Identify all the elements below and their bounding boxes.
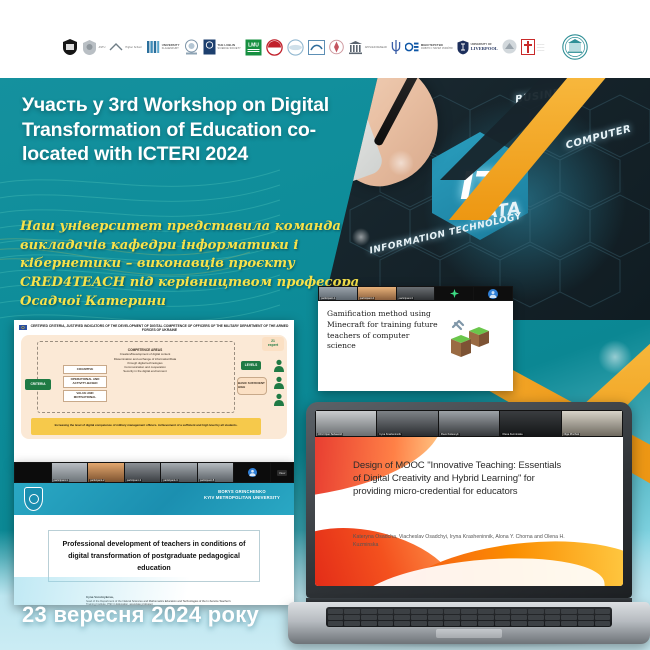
keyboard-key[interactable]: [394, 621, 410, 626]
klagenfurt-bars-icon: [146, 40, 160, 54]
keyboard-key[interactable]: [344, 609, 360, 614]
keyboard-key[interactable]: [578, 615, 594, 620]
keyboard-key[interactable]: [495, 621, 511, 626]
blue-book-logo-icon: [203, 39, 216, 55]
laptop-participant-bar: UCU Oper Sebaunid Iryna Krasheninnik Pav…: [315, 410, 623, 437]
keyboard-key[interactable]: [444, 609, 460, 614]
keyboard-key[interactable]: [411, 609, 427, 614]
video-tile-name: participant-2: [359, 297, 375, 300]
blue-oval-logo-icon: [287, 39, 304, 56]
mooc-slide-authors: Kateryna Osadcha, Viacheslav Osadchyi, I…: [353, 533, 568, 550]
red-book-logo-icon: [521, 39, 535, 55]
keyboard-key[interactable]: [595, 609, 611, 614]
criteria-item-cognitive: COGNITIVE: [63, 365, 107, 374]
logo-lmu: LMU: [245, 36, 262, 58]
grey-crest-2-logo-icon: [502, 39, 517, 55]
blue-square-logo-icon: [308, 40, 325, 55]
keyboard-key[interactable]: [378, 615, 394, 620]
keyboard-key[interactable]: [478, 621, 494, 626]
video-tile-avatar[interactable]: [234, 463, 270, 482]
diagram-screenshot[interactable]: CERTIFIED CRITERIA, JUSTIFIED INDICATORS…: [14, 320, 294, 462]
laptop-base: [288, 602, 650, 644]
grey-crest-logo-icon: [82, 39, 97, 56]
keyboard-key[interactable]: [595, 615, 611, 620]
video-tile-participant-2[interactable]: participant-2: [358, 287, 396, 300]
diagram-footer-note: Increasing the level of digital competen…: [31, 418, 261, 435]
logo-university-of-liverpool: UNIVERSITY OFLIVERPOOL: [457, 36, 498, 58]
video-tile-participant-5[interactable]: participant-5: [198, 463, 234, 482]
bgkmu-slide-title: Professional development of teachers in …: [48, 530, 260, 582]
keyboard-key[interactable]: [444, 621, 460, 626]
red-swoosh-bottom-left: [315, 516, 466, 586]
unesco-temple-icon: [348, 40, 363, 55]
criteria-pill: CRITERIA: [25, 379, 51, 390]
keyboard-key[interactable]: [328, 621, 344, 626]
ukraine-trident-icon: [391, 39, 401, 55]
people-icons-group: [273, 359, 285, 407]
keyboard-key[interactable]: [545, 609, 561, 614]
bgkmu-footer-wave: [14, 577, 294, 605]
video-tile-participant-3[interactable]: participant-3: [125, 463, 161, 482]
view-button-label: View: [277, 470, 287, 476]
laptop-trackpad[interactable]: [436, 629, 502, 638]
video-tile-name: participant-1: [53, 479, 69, 482]
criteria-item-value: VALUE AND MOTIVATIONAL: [63, 390, 107, 402]
partner-logo-strip: ASTU Higher School UNIVERSITYKLAGENFURT: [0, 0, 650, 78]
levels-pill: LEVELS: [241, 361, 261, 370]
gamification-text: Gamification method using Minecraft for …: [327, 309, 439, 352]
logo-hse: Higher School: [109, 36, 141, 58]
video-tile-name: Olena Kuzminska: [501, 433, 523, 436]
laptop-keyboard[interactable]: [326, 607, 612, 627]
logo-red-emblem: [329, 36, 344, 58]
avatar-icon: [248, 468, 257, 477]
laptop-mockup: UCU Oper Sebaunid Iryna Krasheninnik Pav…: [288, 402, 650, 650]
video-tile-name: participant-1: [320, 297, 336, 300]
bgkmu-slide: BORYS GRINCHENKO KYIV METROPOLITAN UNIVE…: [14, 483, 294, 605]
logo-blue-square: [308, 36, 325, 58]
keyboard-key[interactable]: [545, 615, 561, 620]
competence-area-item: Security in the digital environment: [113, 370, 177, 374]
keyboard-key[interactable]: [428, 609, 444, 614]
diagram-title: CERTIFIED CRITERIA, JUSTIFIED INDICATORS…: [30, 324, 289, 333]
keyboard-key[interactable]: [561, 621, 577, 626]
logo-blue-book: THE LUBLINSCIENCE SOCIETY: [203, 36, 241, 58]
keyboard-key[interactable]: [461, 609, 477, 614]
levels-values-box: BASIC SUFFICIENT HIGH: [237, 377, 267, 395]
logo-unesco: APPLIED RESEAR: [348, 36, 387, 58]
gamification-slide: Gamification method using Minecraft for …: [318, 301, 513, 391]
video-tile-participant-2[interactable]: participant-2: [88, 463, 124, 482]
keyboard-key[interactable]: [511, 621, 527, 626]
video-tile-name: participant-5: [199, 479, 215, 482]
logo-blue-book-label: THE LUBLINSCIENCE SOCIETY: [218, 44, 241, 50]
person-icon: [273, 359, 285, 373]
avatar-icon: [488, 289, 498, 299]
keyboard-key[interactable]: [561, 609, 577, 614]
bgkmu-screenshot[interactable]: participant-1 participant-2 participant-…: [14, 462, 294, 605]
person-icon: [273, 393, 285, 407]
logo-round-crest: [184, 36, 199, 58]
keyboard-key[interactable]: [378, 609, 394, 614]
video-tile-participant-3[interactable]: participant-3: [397, 287, 435, 300]
logo-grey-crest-label: ASTU: [99, 46, 106, 49]
video-tile-participant-5[interactable]: Olga Pinchuk: [562, 411, 622, 436]
red-circle-logo-icon: [266, 39, 283, 56]
laptop-lid: UCU Oper Sebaunid Iryna Krasheninnik Pav…: [306, 402, 632, 598]
keyboard-key[interactable]: [595, 621, 611, 626]
logo-grey-crest-2: [502, 36, 517, 58]
keyboard-key[interactable]: [528, 615, 544, 620]
lmu-logo-icon: LMU: [245, 39, 262, 56]
diagram-header: CERTIFIED CRITERIA, JUSTIFIED INDICATORS…: [14, 320, 294, 335]
keyboard-key[interactable]: [545, 621, 561, 626]
keyboard-key[interactable]: [411, 621, 427, 626]
logo-ukraine-trident: [391, 36, 401, 58]
video-tile-lotus-logo[interactable]: [435, 287, 473, 300]
keyboard-key[interactable]: [361, 621, 377, 626]
logo-liverpool-label: UNIVERSITY OFLIVERPOOL: [471, 43, 498, 52]
logo-red-book: —————————: [521, 36, 544, 58]
logo-mon-label: МІНІСТЕРСТВООСВІТИ І НАУКИ УКРАЇНИ: [421, 44, 453, 50]
poster-headline: Участь у 3rd Workshop on Digital Transfo…: [22, 93, 342, 167]
minecraft-blocks-svg: [445, 319, 491, 361]
laptop-screen[interactable]: UCU Oper Sebaunid Iryna Krasheninnik Pav…: [315, 410, 623, 586]
competence-areas-list: Creation/Development of digital content …: [113, 353, 177, 374]
video-tile-participant-1[interactable]: UCU Oper Sebaunid: [316, 411, 376, 436]
expert-count-label: expert: [268, 344, 278, 348]
keyboard-key[interactable]: [428, 621, 444, 626]
video-tile-name: UCU Oper Sebaunid: [317, 433, 343, 436]
expert-count-badge: 21 expert: [262, 337, 284, 351]
keyboard-key[interactable]: [461, 621, 477, 626]
svg-text:LMU: LMU: [248, 42, 259, 48]
keyboard-key[interactable]: [528, 621, 544, 626]
white-swoosh-bottom: [353, 551, 607, 586]
keyboard-key[interactable]: [378, 621, 394, 626]
keyboard-key[interactable]: [561, 615, 577, 620]
bgkmu-crest-icon: [24, 487, 43, 511]
logo-blue-oval: [287, 36, 304, 58]
minecraft-blocks-icon: [445, 319, 491, 361]
liverpool-shield-icon: [457, 40, 469, 55]
diagram-body: CRITERIA COGNITIVE OPERATIONAL AND ACTIV…: [21, 335, 287, 439]
logo-grey-crest: ASTU: [82, 36, 106, 58]
poster-date: 23 вересня 2024 року: [22, 602, 259, 628]
keyboard-key[interactable]: [344, 621, 360, 626]
video-tile-avatar[interactable]: [474, 287, 512, 300]
keyboard-key[interactable]: [578, 609, 594, 614]
video-tile-participant-2[interactable]: Iryna Krasheninnik: [377, 411, 437, 436]
red-emblem-logo-icon: [329, 39, 344, 55]
bgkmu-top-banner: BORYS GRINCHENKO KYIV METROPOLITAN UNIVE…: [14, 483, 294, 515]
video-tile-blank-left[interactable]: [15, 463, 51, 482]
teal-circle-seal-icon: [562, 34, 588, 60]
video-tile-name: participant-2: [89, 479, 105, 482]
video-tile-name: Iryna Krasheninnik: [378, 433, 401, 436]
keyboard-key[interactable]: [511, 609, 527, 614]
keyboard-key[interactable]: [361, 609, 377, 614]
logo-university-klagenfurt: UNIVERSITYKLAGENFURT: [146, 36, 180, 58]
keyboard-key[interactable]: [578, 621, 594, 626]
mooc-slide-title: Design of MOOC "Innovative Teaching: Ess…: [353, 459, 568, 499]
gamification-screenshot[interactable]: participant-1 participant-2 participant-…: [318, 286, 513, 391]
video-tile-name: Olga Pinchuk: [563, 433, 580, 436]
logo-teal-circle-seal: [562, 36, 588, 58]
mon-ukraine-icon: [405, 41, 419, 53]
bgkmu-participant-bar: participant-1 participant-2 participant-…: [14, 462, 294, 483]
round-crest-logo-icon: [184, 39, 199, 56]
eu-flag-icon: [19, 325, 27, 330]
keyboard-key[interactable]: [394, 609, 410, 614]
logo-hse-label: Higher School: [125, 46, 141, 49]
logo-red-book-label: —————————: [537, 43, 544, 52]
keyboard-key[interactable]: [511, 615, 527, 620]
logo-klagenfurt-label: UNIVERSITYKLAGENFURT: [162, 44, 180, 50]
competence-areas-block: COMPETENCE AREAS Creation/Development of…: [113, 348, 177, 375]
video-tile-name: Pavel Kolesnyk: [440, 433, 460, 436]
video-tile-participant-4[interactable]: participant-4: [161, 463, 197, 482]
video-tile-name: participant-4: [162, 479, 178, 482]
keyboard-key[interactable]: [328, 615, 344, 620]
keyboard-key[interactable]: [344, 615, 360, 620]
black-shield-logo-icon: [62, 38, 78, 56]
video-tile-name: participant-3: [398, 297, 414, 300]
keyboard-key[interactable]: [361, 615, 377, 620]
keyboard-key[interactable]: [428, 615, 444, 620]
person-icon: [273, 376, 285, 390]
logo-ministry-of-education-ukraine: МІНІСТЕРСТВООСВІТИ І НАУКИ УКРАЇНИ: [405, 36, 453, 58]
keyboard-key[interactable]: [528, 609, 544, 614]
keyboard-key[interactable]: [328, 609, 344, 614]
video-tile-name: participant-3: [126, 479, 142, 482]
criteria-item-operational: OPERATIONAL AND ACTIVITY-BASED: [63, 376, 107, 388]
poster-canvas: IT BUSINESS COMPUTER DATA INFORMATION TE…: [0, 0, 650, 650]
video-tile-participant-1[interactable]: participant-1: [319, 287, 357, 300]
keyboard-key[interactable]: [394, 615, 410, 620]
video-tile-participant-3[interactable]: Pavel Kolesnyk: [439, 411, 499, 436]
video-tile-participant-1[interactable]: participant-1: [52, 463, 88, 482]
logo-black-shield: [62, 36, 78, 58]
keyboard-key[interactable]: [495, 609, 511, 614]
logo-red-circle: [266, 36, 283, 58]
bgkmu-university-name: BORYS GRINCHENKO KYIV METROPOLITAN UNIVE…: [204, 489, 280, 502]
logo-unesco-label: APPLIED RESEAR: [365, 46, 387, 49]
gamification-participant-bar: participant-1 participant-2 participant-…: [318, 286, 513, 301]
keyboard-key[interactable]: [444, 615, 460, 620]
bgkmu-university-line2: KYIV METROPOLITAN UNIVERSITY: [204, 495, 280, 501]
keyboard-key[interactable]: [461, 615, 477, 620]
video-tile-participant-4[interactable]: Olena Kuzminska: [500, 411, 560, 436]
keyboard-key[interactable]: [478, 615, 494, 620]
keyboard-key[interactable]: [478, 609, 494, 614]
keyboard-key[interactable]: [411, 615, 427, 620]
mooc-slide: Design of MOOC "Innovative Teaching: Ess…: [315, 437, 623, 586]
lotus-logo-icon: [449, 288, 460, 299]
hse-logo-icon: [109, 42, 123, 53]
keyboard-key[interactable]: [495, 615, 511, 620]
